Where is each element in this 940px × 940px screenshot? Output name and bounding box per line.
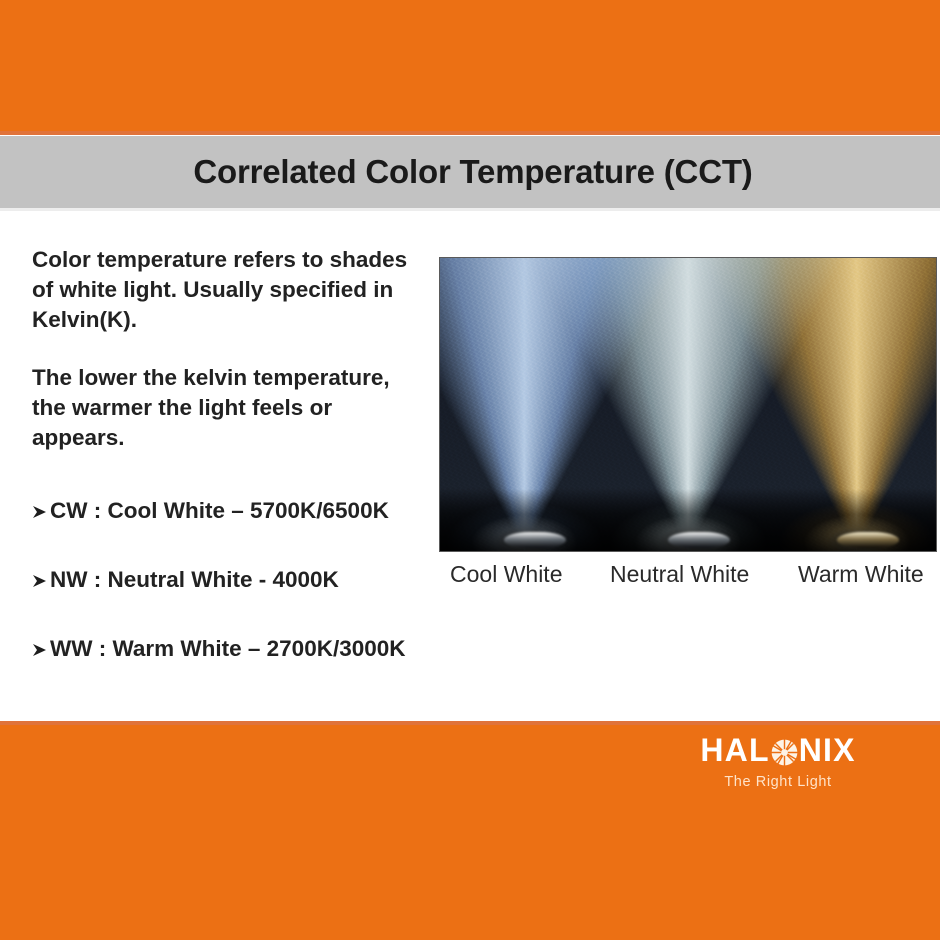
brand-logo: HAL — [688, 733, 868, 790]
photo-caption-row: Cool White Neutral White Warm White — [440, 559, 940, 595]
paragraph-kelvin-rule: The lower the kelvin temperature, the wa… — [32, 363, 424, 453]
description-column: Color temperature refers to shades of wh… — [32, 245, 424, 453]
list-item-warm-white: WW : Warm White – 2700K/3000K — [32, 636, 432, 662]
arrowhead-right-icon — [32, 498, 49, 524]
logo-text-before: HAL — [700, 733, 769, 767]
neutral-white-fixture — [668, 532, 730, 548]
sunburst-o-icon — [771, 738, 798, 765]
light-beams-photo — [440, 258, 936, 551]
arrowhead-right-icon — [32, 636, 49, 662]
page-title: Correlated Color Temperature (CCT) — [0, 153, 940, 191]
cct-bullet-list: CW : Cool White – 5700K/6500K NW : Neutr… — [32, 498, 432, 662]
title-bar: Correlated Color Temperature (CCT) — [0, 136, 940, 208]
logo-tagline: The Right Light — [688, 774, 868, 790]
list-item-label: CW : Cool White – 5700K/6500K — [50, 498, 389, 524]
cool-white-fixture — [504, 532, 566, 548]
top-band-edge — [0, 131, 940, 135]
caption-neutral-white: Neutral White — [610, 559, 749, 589]
content-area: Color temperature refers to shades of wh… — [0, 211, 940, 721]
top-orange-band — [0, 0, 940, 131]
list-item-cool-white: CW : Cool White – 5700K/6500K — [32, 498, 432, 524]
slide-canvas: Correlated Color Temperature (CCT) Color… — [0, 0, 940, 940]
caption-warm-white: Warm White — [798, 559, 924, 589]
paragraph-definition: Color temperature refers to shades of wh… — [32, 245, 424, 335]
caption-cool-white: Cool White — [450, 559, 562, 589]
logo-text-after: NIX — [799, 733, 856, 767]
warm-white-fixture — [837, 532, 899, 548]
arrowhead-right-icon — [32, 567, 49, 593]
list-item-label: NW : Neutral White - 4000K — [50, 567, 339, 593]
list-item-label: WW : Warm White – 2700K/3000K — [50, 636, 406, 662]
list-item-neutral-white: NW : Neutral White - 4000K — [32, 567, 432, 593]
logo-wordmark: HAL — [688, 733, 868, 767]
